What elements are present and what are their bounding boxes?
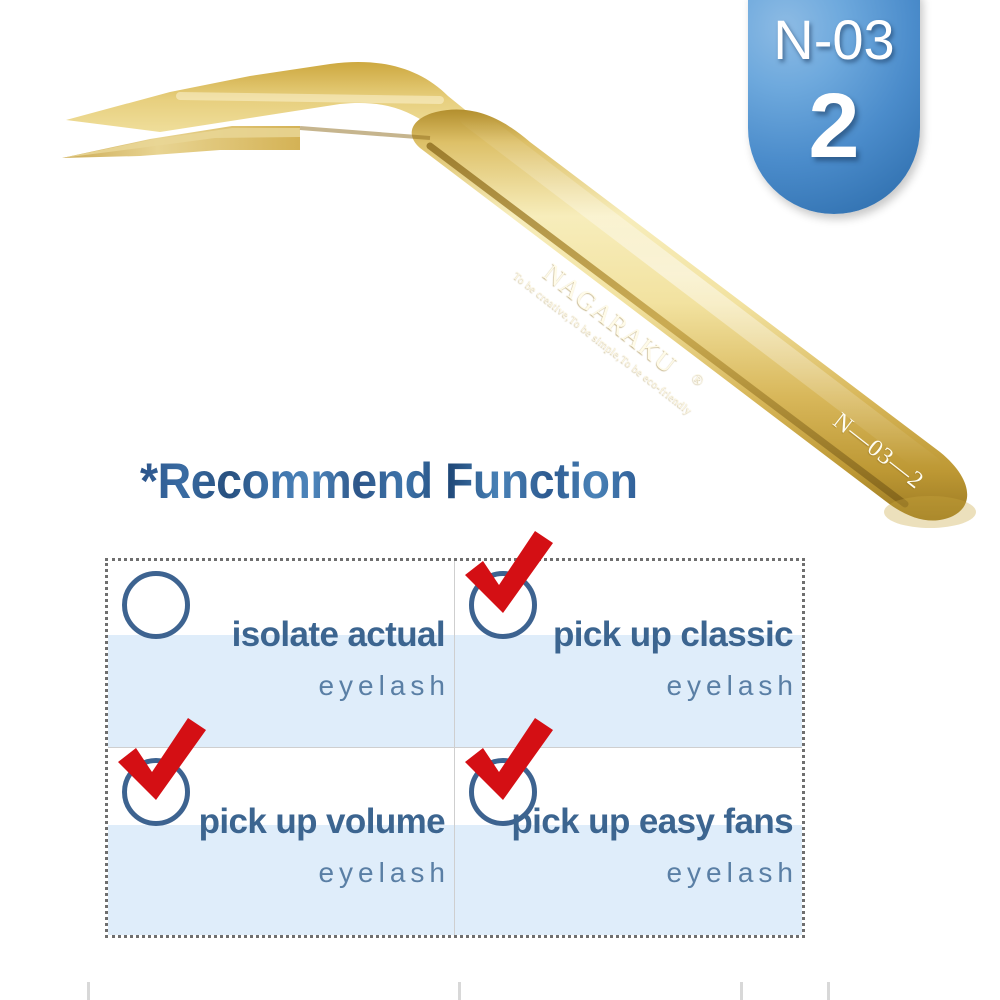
cell-text-group: pick up volume eyelash [199,804,445,889]
tick-mark [740,982,743,1000]
empty-circle-icon[interactable] [122,571,190,639]
bottom-cutoff-ticks [0,980,1000,1000]
cell-text-group: pick up classic eyelash [553,617,793,702]
feature-subtitle: eyelash [553,670,798,702]
feature-cell-pick-up-easy-fans[interactable]: pick up easy fans eyelash [455,748,802,935]
badge-model-code: N-03 [773,12,894,68]
red-checkmark-icon [461,718,557,814]
tick-mark [87,982,90,1000]
feature-subtitle: eyelash [232,670,450,702]
tick-mark [827,982,830,1000]
recommend-function-heading: *Recommend Function [140,452,638,510]
recommend-function-grid: isolate actual eyelash pick up classic e… [105,558,805,938]
tick-mark [458,982,461,1000]
model-badge: N-03 2 [748,0,920,214]
product-photo: NAGARAKU ® To be creative,To be simple,T… [0,0,1000,530]
feature-title: pick up classic [553,617,793,654]
red-checkmark-icon [114,718,210,814]
feature-subtitle: eyelash [199,857,450,889]
feature-title: pick up easy fans [511,804,793,841]
feature-subtitle: eyelash [511,857,798,889]
feature-cell-pick-up-volume[interactable]: pick up volume eyelash [108,748,455,935]
cell-text-group: pick up easy fans eyelash [511,804,793,889]
cell-text-group: isolate actual eyelash [232,617,445,702]
feature-title: pick up volume [199,804,445,841]
red-checkmark-icon [461,531,557,627]
badge-model-number: 2 [808,80,859,172]
feature-title: isolate actual [232,617,445,654]
